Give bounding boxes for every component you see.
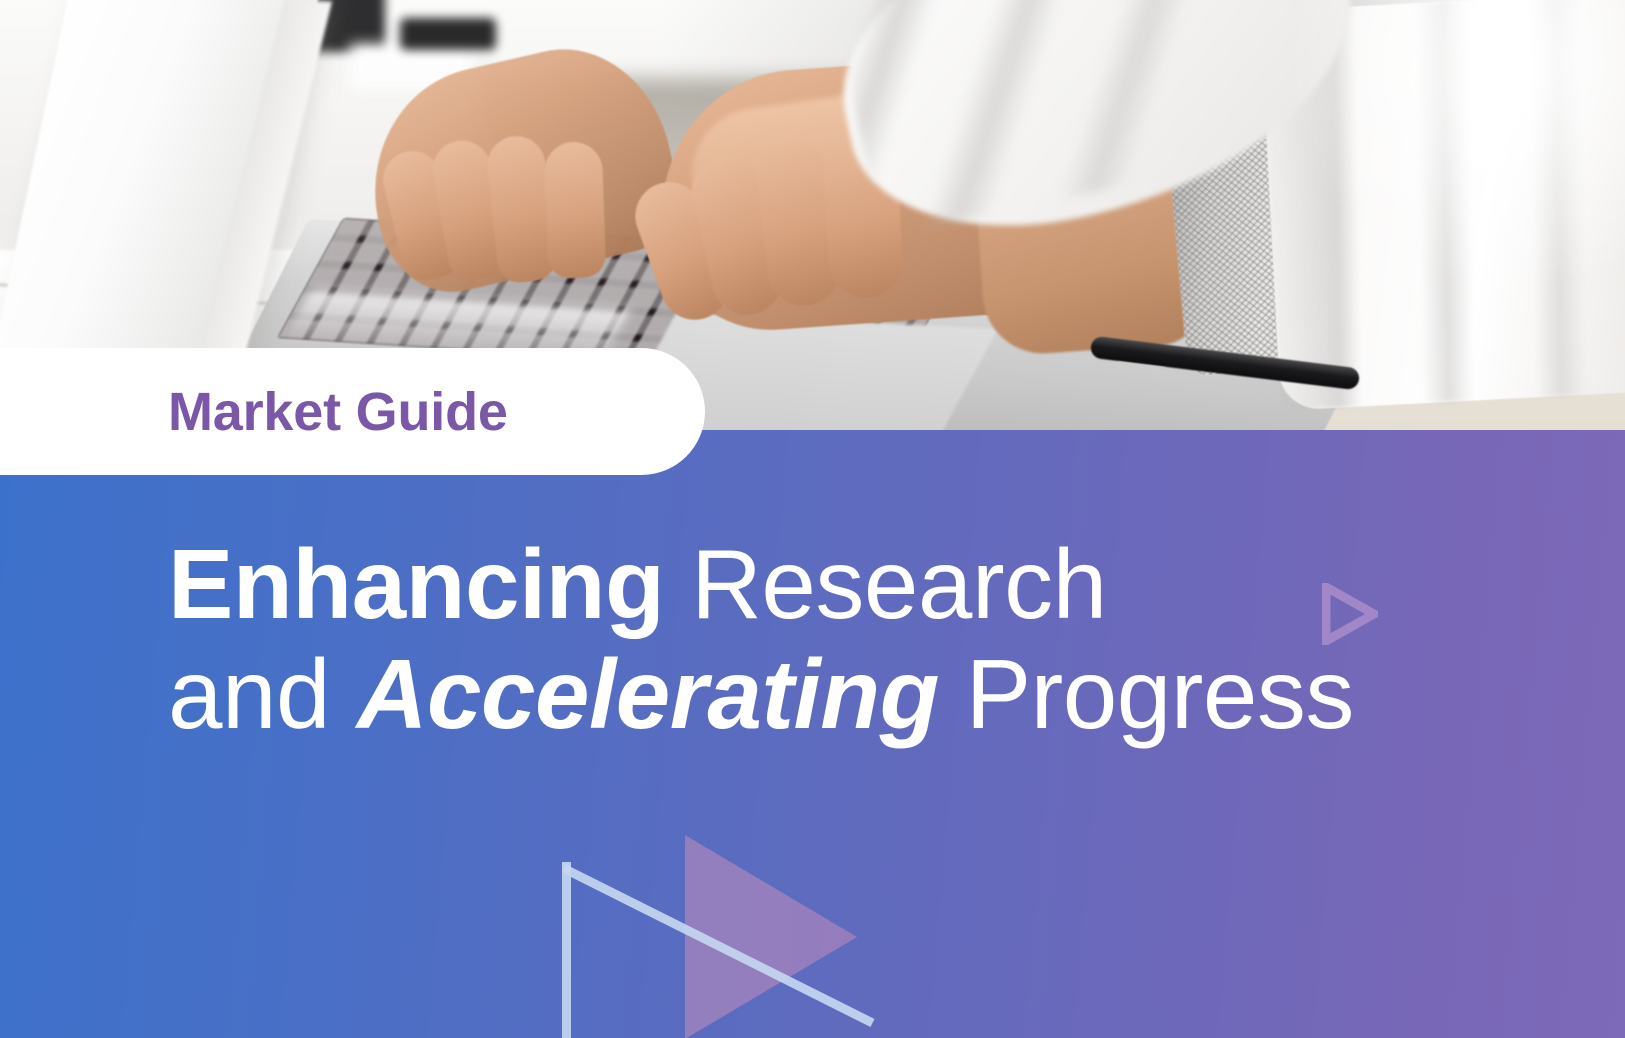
title-word-progress: Progress <box>966 639 1354 749</box>
cover-title-line-1: Enhancing Research <box>168 530 1508 640</box>
cover-title-line-2: and Accelerating Progress <box>168 640 1508 750</box>
title-word-and: and <box>168 639 330 749</box>
left-hand-finger <box>544 141 607 279</box>
category-badge: Market Guide <box>0 348 705 475</box>
report-cover: Market Guide Enhancing Research and Acce… <box>0 0 1625 1038</box>
title-word-research: Research <box>691 529 1106 639</box>
background-device <box>400 18 496 50</box>
category-badge-label: Market Guide <box>168 385 508 439</box>
cover-title: Enhancing Research and Accelerating Prog… <box>168 530 1508 750</box>
title-word-enhancing: Enhancing <box>168 529 664 639</box>
window-light-glow <box>1265 0 1625 280</box>
title-word-accelerating: Accelerating <box>357 639 939 749</box>
triangle-edge-vertical <box>562 862 571 1038</box>
